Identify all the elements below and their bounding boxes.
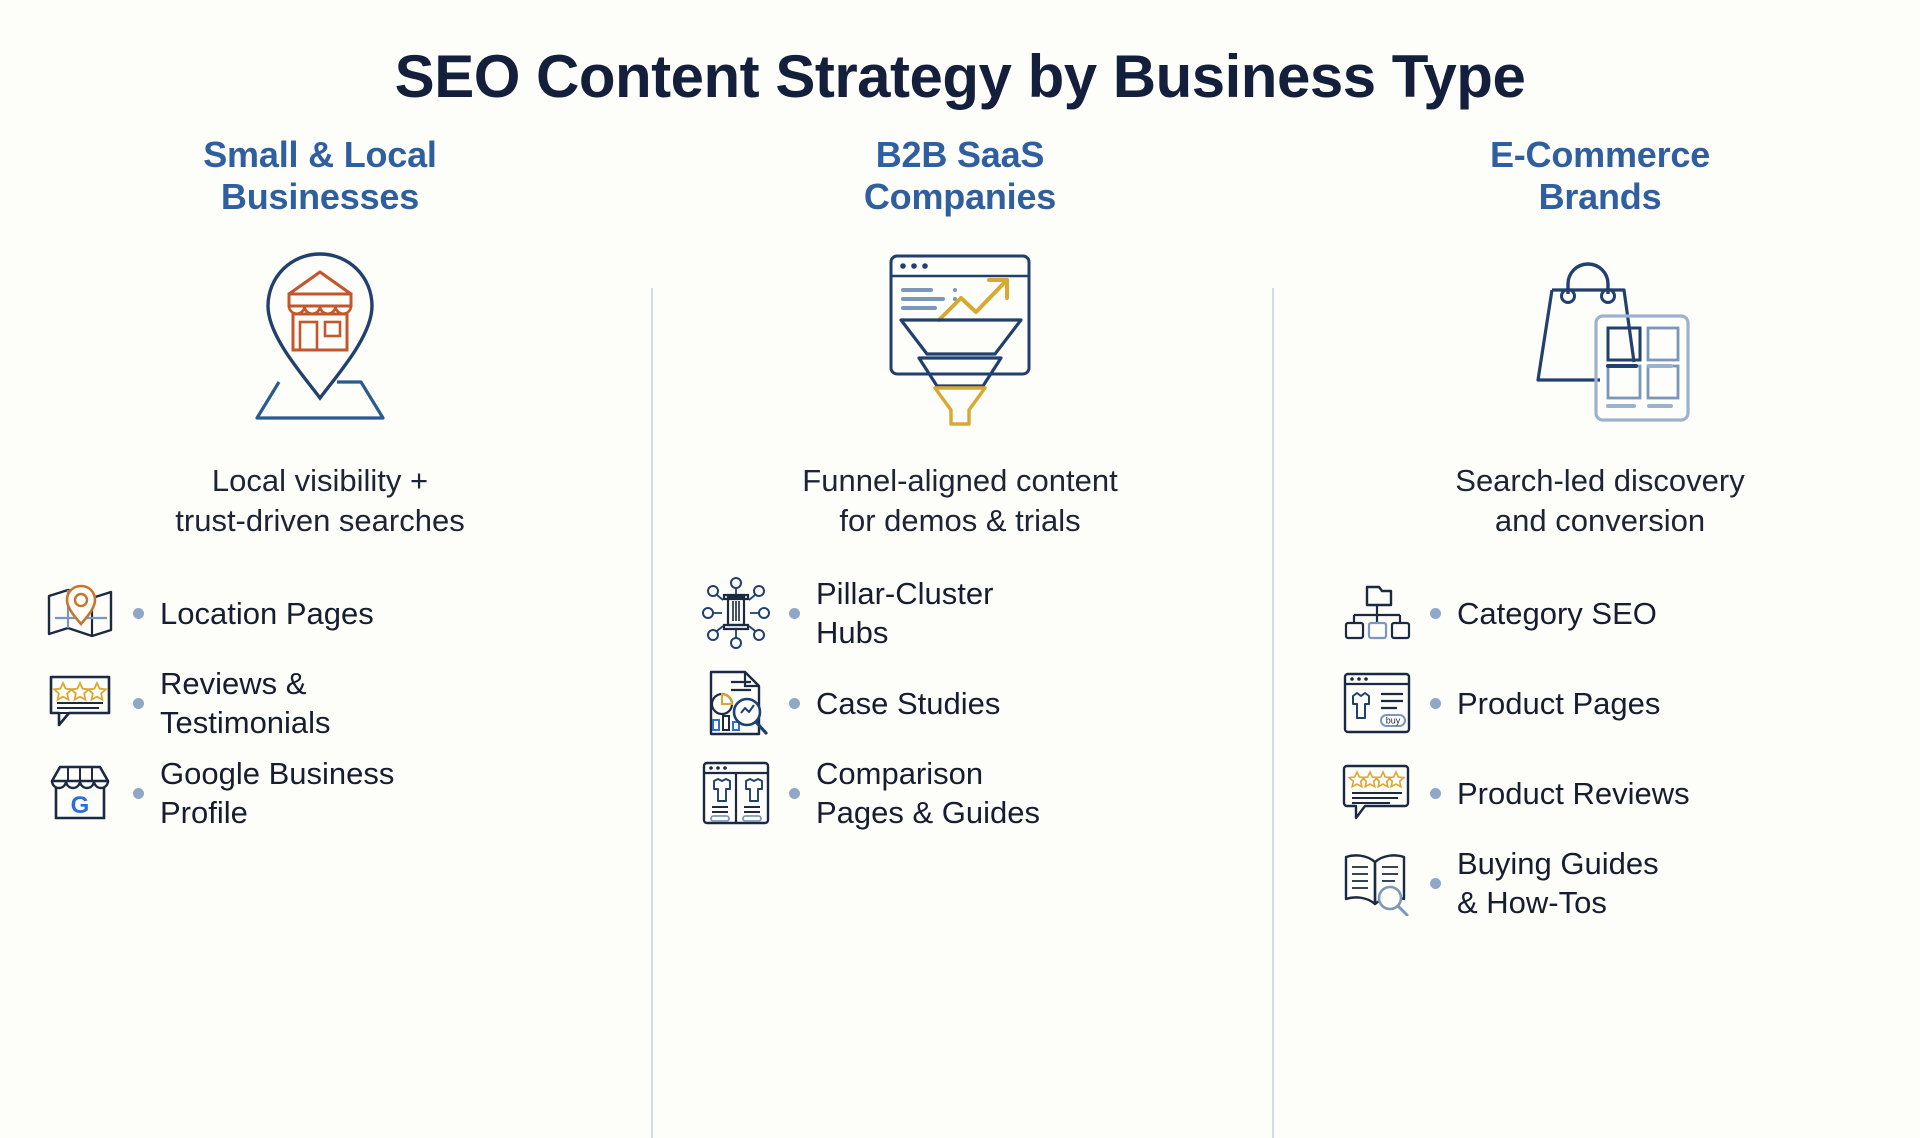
item-list: Pillar-Cluster Hubs [655, 574, 1265, 844]
item-list: Category SEO buy Product Pages [1294, 574, 1906, 934]
storefront-google-icon: G [37, 757, 123, 829]
list-item[interactable]: G Google Business Profile [37, 754, 609, 832]
bullet-dot [1430, 698, 1441, 709]
item-list: Location Pages Reviews & Testimonials [31, 574, 609, 844]
list-item-label: Case Studies [816, 684, 1000, 723]
bullet-dot [1430, 788, 1441, 799]
list-item[interactable]: Category SEO [1334, 574, 1906, 652]
bullet-dot [133, 698, 144, 709]
list-item-label: Product Pages [1457, 684, 1660, 723]
list-item-label: Comparison Pages & Guides [816, 754, 1040, 832]
shopping-bag-grid-icon [1508, 241, 1693, 431]
bullet-dot [133, 788, 144, 799]
list-item-label: Product Reviews [1457, 774, 1690, 813]
column-ecommerce-brands: E-Commerce Brands Search-led discovery a… [1280, 134, 1920, 934]
list-item-label: Google Business Profile [160, 754, 394, 832]
bullet-dot [789, 788, 800, 799]
bullet-dot [1430, 608, 1441, 619]
map-pin-icon [37, 577, 123, 649]
svg-text:G: G [71, 792, 90, 819]
funnel-dashboard-icon [873, 241, 1048, 431]
list-item-label: Location Pages [160, 594, 374, 633]
list-item[interactable]: Product Reviews [1334, 754, 1906, 832]
page-title: SEO Content Strategy by Business Type [0, 0, 1920, 110]
bullet-dot [133, 608, 144, 619]
review-stars-bubble-icon [37, 667, 123, 739]
review-stars-card-icon [1334, 757, 1420, 829]
column-subtitle: Search-led discovery and conversion [1455, 461, 1744, 540]
folder-sitemap-icon [1334, 577, 1420, 649]
list-item-label: Category SEO [1457, 594, 1657, 633]
column-b2b-saas-companies: B2B SaaS Companies Funnel-aligned conten… [640, 134, 1280, 934]
bullet-dot [789, 698, 800, 709]
svg-text:buy: buy [1386, 716, 1401, 726]
location-storefront-pin-icon [245, 241, 395, 431]
column-subtitle: Local visibility + trust-driven searches [175, 461, 464, 540]
list-item[interactable]: Reviews & Testimonials [37, 664, 609, 742]
list-item[interactable]: Case Studies [693, 664, 1265, 742]
list-item[interactable]: buy Product Pages [1334, 664, 1906, 742]
pillar-cluster-icon [693, 577, 779, 649]
columns-container: Small & Local Businesses Local visibilit… [0, 110, 1920, 934]
bullet-dot [1430, 878, 1441, 889]
open-book-magnifier-icon [1334, 847, 1420, 919]
product-page-buy-icon: buy [1334, 667, 1420, 739]
column-subtitle: Funnel-aligned content for demos & trial… [802, 461, 1117, 540]
list-item[interactable]: Pillar-Cluster Hubs [693, 574, 1265, 652]
column-heading: B2B SaaS Companies [864, 134, 1056, 219]
list-item-label: Pillar-Cluster Hubs [816, 574, 993, 652]
list-item[interactable]: Comparison Pages & Guides [693, 754, 1265, 832]
list-item-label: Buying Guides & How-Tos [1457, 844, 1659, 922]
list-item-label: Reviews & Testimonials [160, 664, 331, 742]
list-item[interactable]: Buying Guides & How-Tos [1334, 844, 1906, 922]
column-heading: E-Commerce Brands [1490, 134, 1710, 219]
column-small-local-businesses: Small & Local Businesses Local visibilit… [0, 134, 640, 934]
bullet-dot [789, 608, 800, 619]
report-magnifier-icon [693, 667, 779, 739]
compare-products-icon [693, 757, 779, 829]
list-item[interactable]: Location Pages [37, 574, 609, 652]
column-heading: Small & Local Businesses [203, 134, 436, 219]
